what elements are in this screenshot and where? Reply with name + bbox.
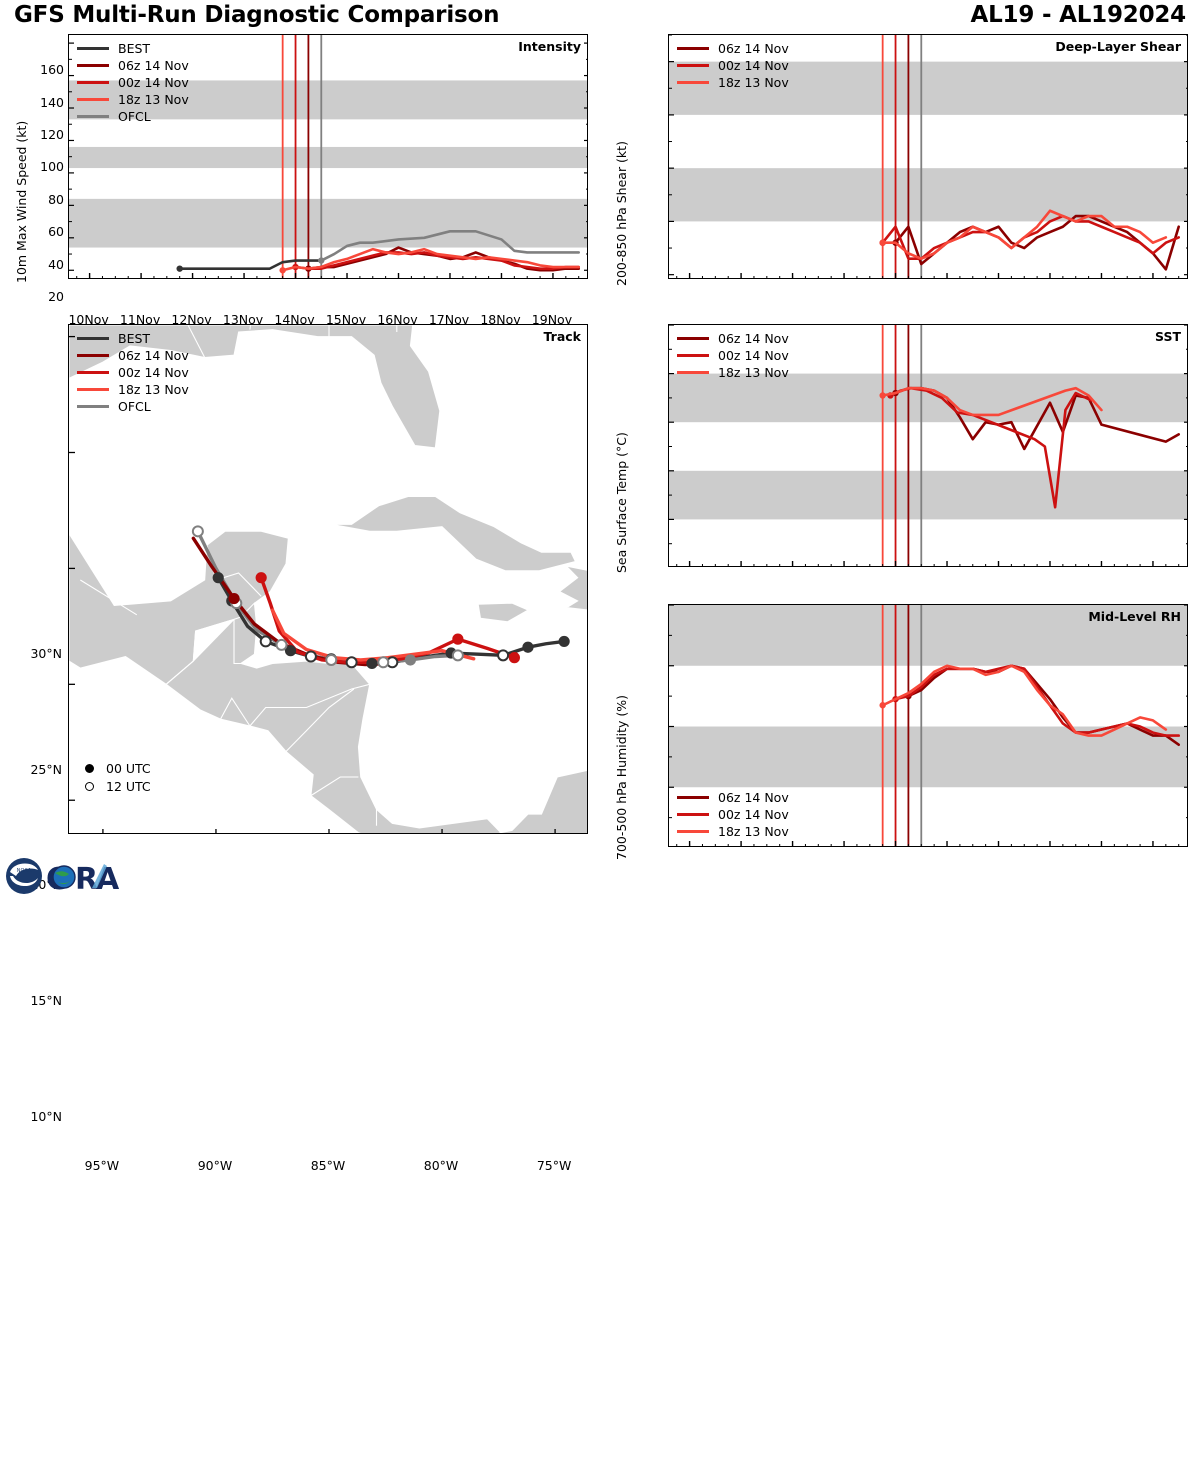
- legend-line-swatch: [77, 337, 109, 340]
- track-point-12utc: [277, 640, 287, 650]
- y-tick-label: 140: [26, 95, 64, 110]
- track-point-00utc: [559, 636, 569, 646]
- legend-label: 00z 14 Nov: [718, 348, 789, 363]
- legend-label: 18z 13 Nov: [118, 92, 189, 107]
- y-tick-label: 40: [26, 257, 64, 272]
- track-point-00utc: [367, 658, 377, 668]
- page-title: GFS Multi-Run Diagnostic Comparison: [14, 2, 499, 28]
- panel-sst: Sea Surface Temp (°C) SST 06z 14 Nov00z …: [600, 318, 1200, 598]
- y-tick-label: 80: [26, 192, 64, 207]
- legend-label: 06z 14 Nov: [718, 331, 789, 346]
- shear-plot: Deep-Layer Shear 06z 14 Nov00z 14 Nov18z…: [668, 34, 1188, 279]
- shear-ylabel: 200-850 hPa Shear (kt): [614, 141, 629, 286]
- legend-entry: BEST: [77, 40, 189, 57]
- track-point-00utc: [509, 653, 519, 663]
- noaa-icon: NOAA: [6, 858, 42, 894]
- rh-plot: Mid-Level RH 06z 14 Nov00z 14 Nov18z 13 …: [668, 604, 1188, 847]
- track-point-00utc: [213, 573, 223, 583]
- track-point-00utc: [453, 634, 463, 644]
- shaded-band: [669, 168, 1188, 221]
- legend-entry: 18z 13 Nov: [677, 823, 789, 840]
- filled-dot-icon: [85, 764, 94, 773]
- track-marker-legend: 00 UTC12 UTC: [81, 759, 151, 795]
- legend-line-swatch: [77, 47, 109, 50]
- land-polygon: [555, 566, 588, 615]
- sst-title: SST: [1155, 329, 1181, 344]
- series-start-marker: [176, 265, 182, 271]
- legend-label: 06z 14 Nov: [718, 790, 789, 805]
- map-y-tick-label: 15°N: [12, 993, 62, 1008]
- legend-line-swatch: [677, 64, 709, 67]
- legend-label: OFCL: [118, 109, 151, 124]
- sst-ylabel: Sea Surface Temp (°C): [614, 432, 629, 573]
- legend-line-swatch: [677, 337, 709, 340]
- legend-label: 00z 14 Nov: [718, 58, 789, 73]
- legend-entry: 06z 14 Nov: [77, 57, 189, 74]
- legend-entry: BEST: [77, 330, 189, 347]
- legend-entry: 06z 14 Nov: [677, 789, 789, 806]
- intensity-plot: Intensity BEST06z 14 Nov00z 14 Nov18z 13…: [68, 34, 588, 279]
- legend-label: 00z 14 Nov: [118, 365, 189, 380]
- legend-entry: 00z 14 Nov: [77, 364, 189, 381]
- legend-line-swatch: [77, 405, 109, 408]
- y-tick-label: 60: [26, 224, 64, 239]
- map-y-tick-label: 30°N: [12, 646, 62, 661]
- legend-line-swatch: [677, 354, 709, 357]
- land-polygon: [331, 497, 575, 571]
- figure-root: GFS Multi-Run Diagnostic Comparison AL19…: [0, 0, 1200, 900]
- series-line: [896, 216, 1179, 269]
- legend-label: 18z 13 Nov: [718, 365, 789, 380]
- shaded-band: [669, 727, 1188, 788]
- track-point-12utc: [261, 636, 271, 646]
- series-start-marker: [879, 240, 885, 246]
- track-point-00utc: [256, 573, 266, 583]
- y-tick-label: 160: [26, 62, 64, 77]
- svg-text:NOAA: NOAA: [17, 868, 32, 874]
- land-polygon: [69, 531, 288, 684]
- panel-intensity: 10m Max Wind Speed (kt) Intensity BEST06…: [0, 28, 600, 313]
- series-start-marker: [879, 702, 885, 708]
- legend-label: 00z 14 Nov: [718, 807, 789, 822]
- legend-entry: OFCL: [77, 398, 189, 415]
- legend-entry: 18z 13 Nov: [677, 364, 789, 381]
- series-start-marker: [318, 257, 324, 263]
- legend-line-swatch: [77, 115, 109, 118]
- legend-line-swatch: [77, 388, 109, 391]
- land-polygon: [501, 770, 588, 834]
- series-start-marker: [279, 267, 285, 273]
- legend-line-swatch: [77, 371, 109, 374]
- legend-line-swatch: [77, 81, 109, 84]
- shaded-band: [69, 199, 588, 248]
- legend-entry: 00z 14 Nov: [77, 74, 189, 91]
- legend-line-swatch: [77, 354, 109, 357]
- map-x-tick-label: 85°W: [294, 1159, 362, 1173]
- map-x-tick-label: 80°W: [407, 1159, 475, 1173]
- shaded-band: [669, 471, 1188, 520]
- legend-label: BEST: [118, 331, 150, 346]
- legend-entry: 18z 13 Nov: [77, 381, 189, 398]
- track-point-12utc: [453, 650, 463, 660]
- map-y-tick-label: 10°N: [12, 1109, 62, 1124]
- y-tick-label: 20: [26, 289, 64, 304]
- legend-line-swatch: [677, 830, 709, 833]
- shaded-band: [69, 147, 588, 168]
- panel-track: Track BEST06z 14 Nov00z 14 Nov18z 13 Nov…: [0, 318, 600, 863]
- legend-entry: 00z 14 Nov: [677, 347, 789, 364]
- track-point-00utc: [523, 642, 533, 652]
- legend-label: 06z 14 Nov: [718, 41, 789, 56]
- legend-entry: 06z 14 Nov: [677, 330, 789, 347]
- legend-entry: 18z 13 Nov: [677, 74, 789, 91]
- legend-line-swatch: [677, 796, 709, 799]
- legend-entry: 06z 14 Nov: [677, 40, 789, 57]
- land-polygon: [478, 603, 528, 622]
- legend-line-swatch: [677, 47, 709, 50]
- y-tick-label: 120: [26, 127, 64, 142]
- track-point-12utc: [498, 650, 508, 660]
- map-x-tick-label: 90°W: [181, 1159, 249, 1173]
- rh-ylabel: 700-500 hPa Humidity (%): [614, 695, 629, 860]
- legend-entry: 18z 13 Nov: [77, 91, 189, 108]
- track-point-12utc: [193, 526, 203, 536]
- legend-label: 06z 14 Nov: [118, 348, 189, 363]
- legend-label: 18z 13 Nov: [718, 75, 789, 90]
- shear-title: Deep-Layer Shear: [1055, 39, 1181, 54]
- intensity-legend: BEST06z 14 Nov00z 14 Nov18z 13 NovOFCL: [77, 40, 189, 125]
- track-point-12utc: [306, 652, 316, 662]
- land-polygon: [166, 603, 501, 834]
- rh-title: Mid-Level RH: [1088, 609, 1181, 624]
- sst-legend: 06z 14 Nov00z 14 Nov18z 13 Nov: [677, 330, 789, 381]
- series-line: [883, 666, 1166, 736]
- legend-line-swatch: [677, 813, 709, 816]
- storm-id-title: AL19 - AL192024: [970, 2, 1186, 28]
- track-point-12utc: [326, 655, 336, 665]
- map-x-tick-label: 75°W: [520, 1159, 588, 1173]
- track-point-00utc: [405, 655, 415, 665]
- track-title: Track: [544, 329, 581, 344]
- legend-entry: 06z 14 Nov: [77, 347, 189, 364]
- cira-noaa-logo: NOAA C R A: [4, 852, 122, 898]
- map-y-tick-label: 25°N: [12, 762, 62, 777]
- legend-label: BEST: [118, 41, 150, 56]
- legend-entry: OFCL: [77, 108, 189, 125]
- marker-legend-label: 00 UTC: [106, 761, 151, 776]
- map-x-tick-label: 95°W: [68, 1159, 136, 1173]
- marker-legend-entry: 00 UTC: [81, 759, 151, 777]
- series-start-marker: [879, 392, 885, 398]
- track-plot[interactable]: Track BEST06z 14 Nov00z 14 Nov18z 13 Nov…: [68, 324, 588, 834]
- legend-label: 18z 13 Nov: [118, 382, 189, 397]
- legend-line-swatch: [677, 81, 709, 84]
- svg-text:R: R: [75, 862, 98, 897]
- marker-legend-entry: 12 UTC: [81, 777, 151, 795]
- legend-label: 06z 14 Nov: [118, 58, 189, 73]
- legend-entry: 00z 14 Nov: [677, 806, 789, 823]
- legend-line-swatch: [77, 98, 109, 101]
- marker-legend-label: 12 UTC: [106, 779, 151, 794]
- track-point-12utc: [347, 657, 357, 667]
- legend-entry: 00z 14 Nov: [677, 57, 789, 74]
- shear-legend: 06z 14 Nov00z 14 Nov18z 13 Nov: [677, 40, 789, 91]
- panel-rh: 700-500 hPa Humidity (%) Mid-Level RH 06…: [600, 598, 1200, 900]
- open-dot-icon: [85, 782, 94, 791]
- panel-shear: 200-850 hPa Shear (kt) Deep-Layer Shear …: [600, 28, 1200, 313]
- rh-legend: 06z 14 Nov00z 14 Nov18z 13 Nov: [677, 789, 789, 840]
- track-point-00utc: [229, 594, 239, 604]
- track-point-12utc: [378, 657, 388, 667]
- legend-line-swatch: [77, 64, 109, 67]
- cira-icon: C R A: [46, 862, 120, 897]
- sst-plot: SST 06z 14 Nov00z 14 Nov18z 13 Nov: [668, 324, 1188, 567]
- legend-line-swatch: [677, 371, 709, 374]
- legend-label: 18z 13 Nov: [718, 824, 789, 839]
- legend-label: 00z 14 Nov: [118, 75, 189, 90]
- y-tick-label: 100: [26, 159, 64, 174]
- legend-label: OFCL: [118, 399, 151, 414]
- track-legend: BEST06z 14 Nov00z 14 Nov18z 13 NovOFCL: [77, 330, 189, 415]
- intensity-title: Intensity: [518, 39, 581, 54]
